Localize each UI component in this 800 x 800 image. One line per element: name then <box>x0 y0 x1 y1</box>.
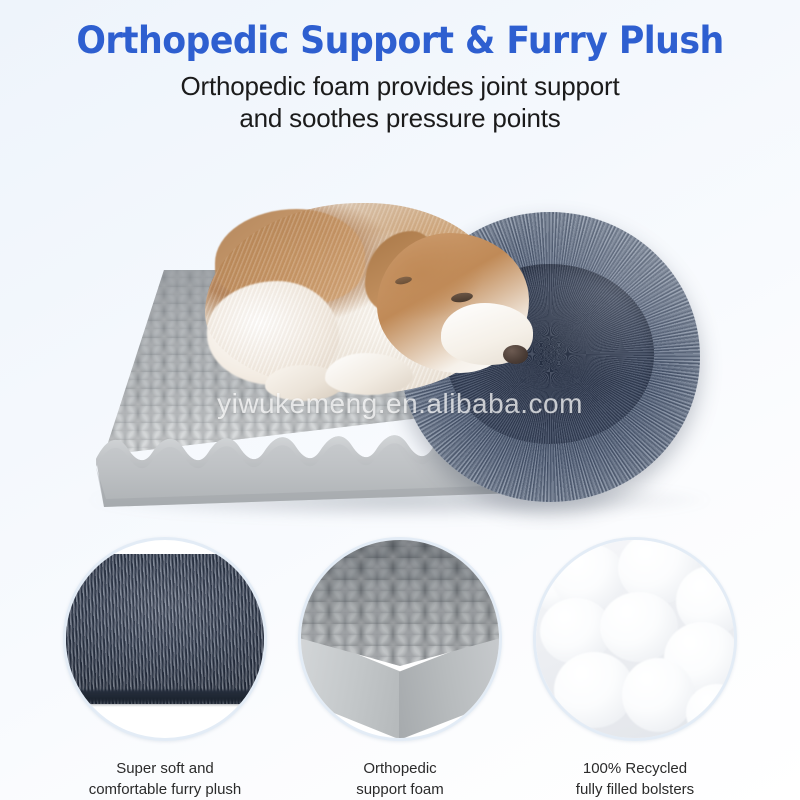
plush-fabric-edge <box>63 690 267 706</box>
caption-line-2: fully filled bolsters <box>510 779 760 800</box>
caption-line-1: Super soft and <box>40 758 290 779</box>
fiberfill-puff <box>622 658 694 732</box>
caption-line-1: 100% Recycled <box>510 758 760 779</box>
hero-product-image: yiwukemeng.en.alibaba.com <box>0 150 800 530</box>
sleeping-dog <box>205 185 555 415</box>
page-title: Orthopedic Support & Furry Plush <box>24 20 776 62</box>
header-block: Orthopedic Support & Furry Plush Orthope… <box>0 0 800 150</box>
product-marketing-banner: Orthopedic Support & Furry Plush Orthope… <box>0 0 800 800</box>
feature-fiberfill: 100% Recycled fully filled bolsters <box>510 530 760 741</box>
caption-line-1: Orthopedic <box>275 758 525 779</box>
feature-image-plush <box>63 537 267 741</box>
feature-plush: Super soft and comfortable furry plush <box>40 530 290 741</box>
feature-image-fiberfill <box>533 537 737 741</box>
dog-nose <box>503 345 528 364</box>
caption-line-2: comfortable furry plush <box>40 779 290 800</box>
feature-caption-fiberfill: 100% Recycled fully filled bolsters <box>510 758 760 800</box>
feature-caption-foam: Orthopedic support foam <box>275 758 525 800</box>
plush-fur-strands <box>63 554 267 704</box>
subtitle-line-2: and soothes pressure points <box>0 102 800 134</box>
fiberfill-puff <box>686 684 737 741</box>
feature-image-foam <box>298 537 502 741</box>
page-subtitle: Orthopedic foam provides joint support a… <box>0 70 800 134</box>
caption-line-2: support foam <box>275 779 525 800</box>
feature-foam: Orthopedic support foam <box>275 530 525 741</box>
dog-paw-front <box>325 353 413 395</box>
feature-caption-plush: Super soft and comfortable furry plush <box>40 758 290 800</box>
feature-row: Super soft and comfortable furry plush O… <box>0 530 800 800</box>
subtitle-line-1: Orthopedic foam provides joint support <box>0 70 800 102</box>
